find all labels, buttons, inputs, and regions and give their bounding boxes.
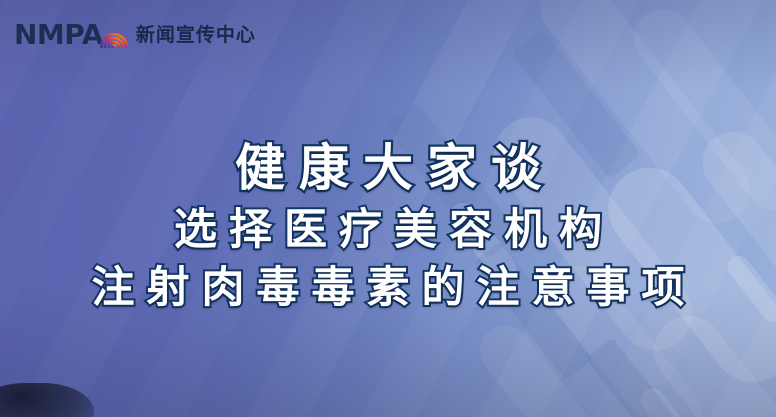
decor-capsule: [470, 316, 620, 417]
background-corner-silhouette: [0, 383, 94, 417]
nmpa-wordmark: NMPA: [14, 21, 103, 49]
decor-capsule: [585, 337, 704, 417]
title-main-heading: 健康大家谈: [0, 138, 776, 198]
title-subheading-line-1: 选择医疗美容机构: [0, 202, 776, 258]
video-title-card: NMPA: [0, 0, 776, 417]
decor-capsule: [640, 302, 776, 417]
nmpa-org-name: 新闻宣传中心: [136, 26, 256, 45]
title-block: 健康大家谈 选择医疗美容机构 注射肉毒毒素的注意事项: [0, 138, 776, 316]
nmpa-logo: NMPA: [14, 18, 256, 52]
nmpa-rainbow-arc-icon: [103, 22, 136, 48]
title-subheading-line-2: 注射肉毒毒素的注意事项: [0, 260, 776, 316]
decor-capsule: [636, 384, 708, 417]
